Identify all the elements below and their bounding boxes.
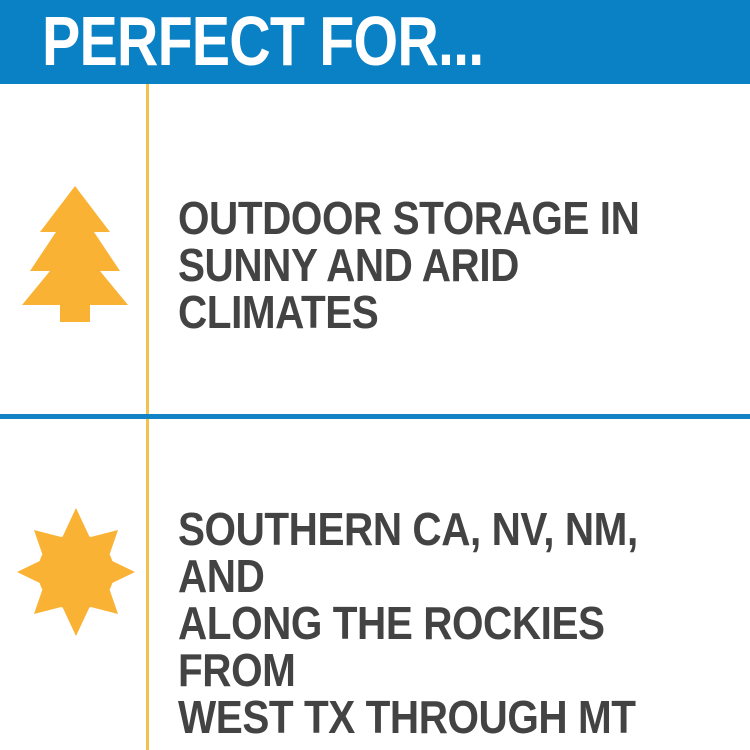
tree-icon xyxy=(22,186,128,322)
feature-row-outdoor-text: OUTDOOR STORAGE IN SUNNY AND ARID CLIMAT… xyxy=(178,195,678,336)
feature-row-regions-icon-cell xyxy=(0,419,146,750)
sun-icon xyxy=(17,508,135,636)
feature-row-outdoor: OUTDOOR STORAGE IN SUNNY AND ARID CLIMAT… xyxy=(0,84,750,414)
header-bar: PERFECT FOR... xyxy=(0,0,750,84)
feature-row-outdoor-icon-cell xyxy=(0,84,146,414)
page-title: PERFECT FOR... xyxy=(42,5,483,77)
feature-row-regions-text: SOUTHERN CA, NV, NM, AND ALONG THE ROCKI… xyxy=(178,506,678,741)
horizontal-divider xyxy=(0,414,750,419)
infographic-panel: PERFECT FOR... OUTDOOR STORAGE IN SUNNY … xyxy=(0,0,750,750)
feature-row-regions: SOUTHERN CA, NV, NM, AND ALONG THE ROCKI… xyxy=(0,419,750,750)
